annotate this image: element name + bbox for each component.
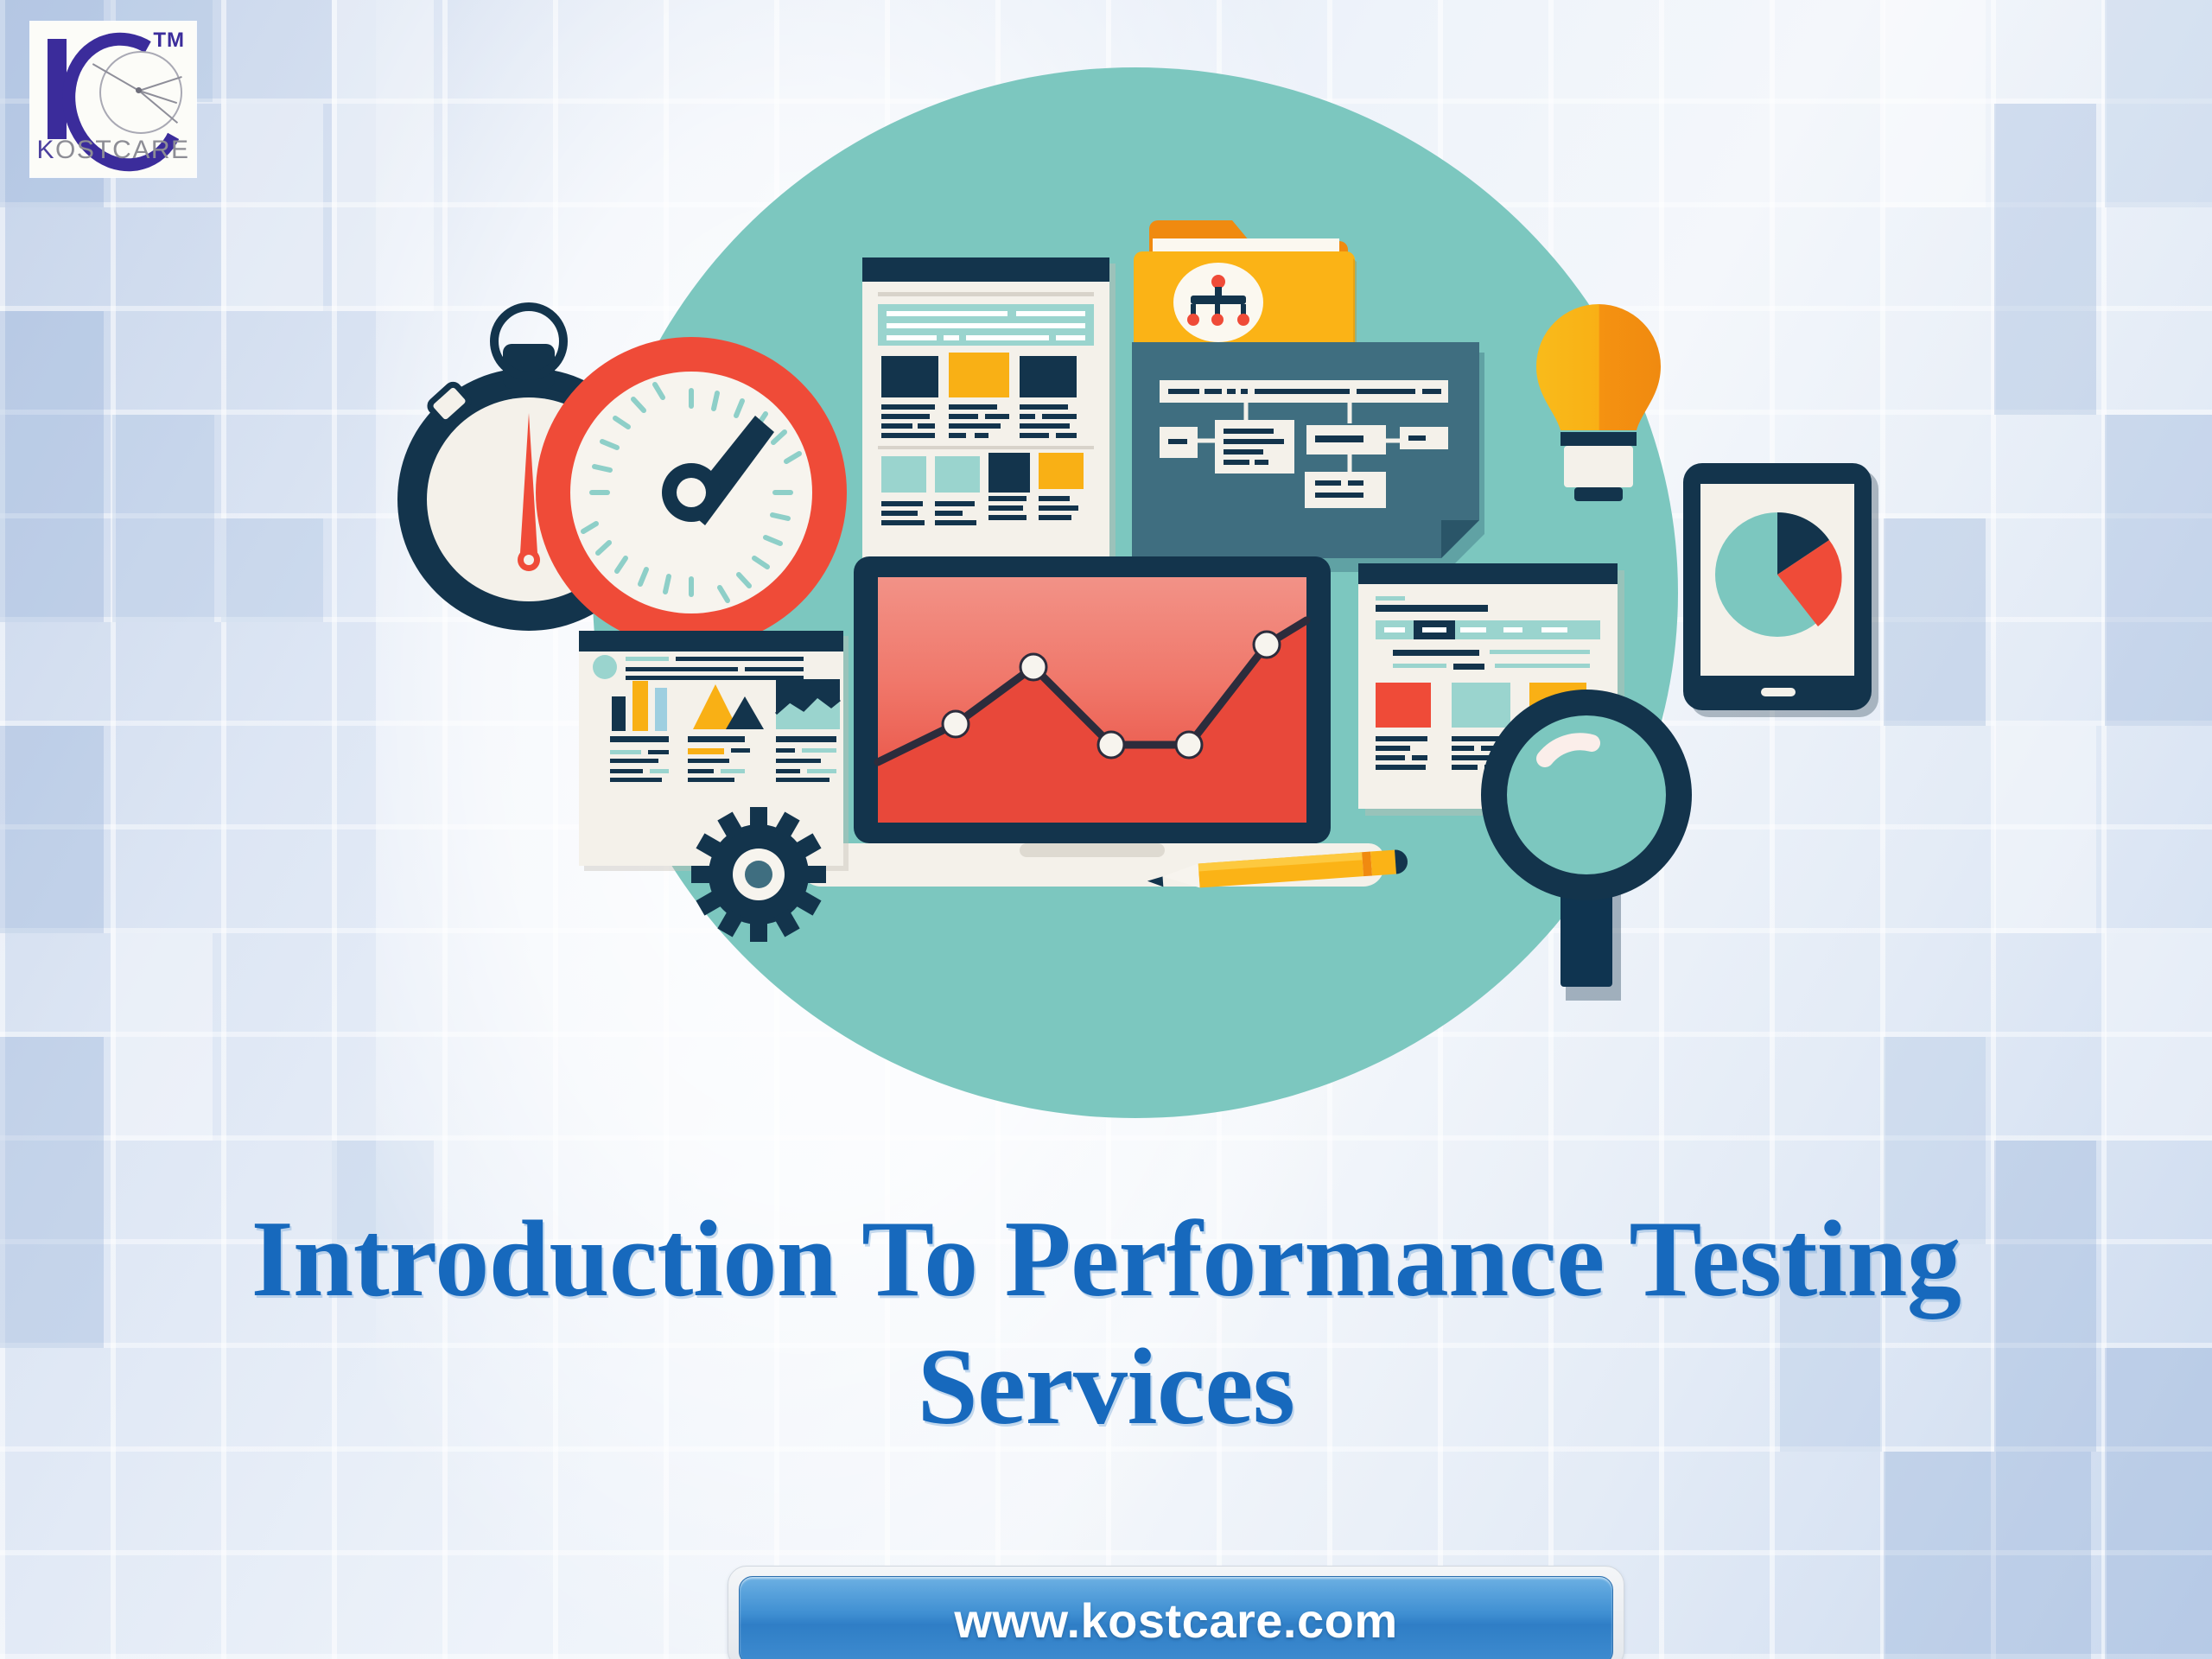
mini-area-chart	[776, 679, 840, 729]
mosaic-tile	[1884, 1452, 2091, 1659]
speed-gauge-icon	[536, 337, 847, 648]
website-url-label: www.kostcare.com	[954, 1592, 1397, 1649]
report-panel	[579, 631, 849, 871]
hero-illustration	[0, 0, 2212, 1192]
title-line-2: Services	[0, 1333, 2212, 1442]
title-line-1: Introduction To Performance Testing	[251, 1199, 1961, 1319]
slide-canvas: TM KOSTCARE	[0, 0, 2212, 1659]
website-url-frame: www.kostcare.com	[728, 1566, 1624, 1659]
document-page-mockup	[862, 257, 1116, 575]
tablet-pie-chart	[1683, 463, 1878, 717]
page-title: Introduction To Performance Testing Serv…	[0, 1205, 2212, 1442]
website-url-button[interactable]: www.kostcare.com	[739, 1576, 1613, 1659]
lightbulb-icon	[1536, 304, 1661, 501]
laptop-chart	[800, 556, 1384, 887]
sitemap-panel	[1132, 342, 1484, 572]
magnifier-icon	[1481, 690, 1692, 1001]
illustration-art	[0, 0, 2212, 1192]
